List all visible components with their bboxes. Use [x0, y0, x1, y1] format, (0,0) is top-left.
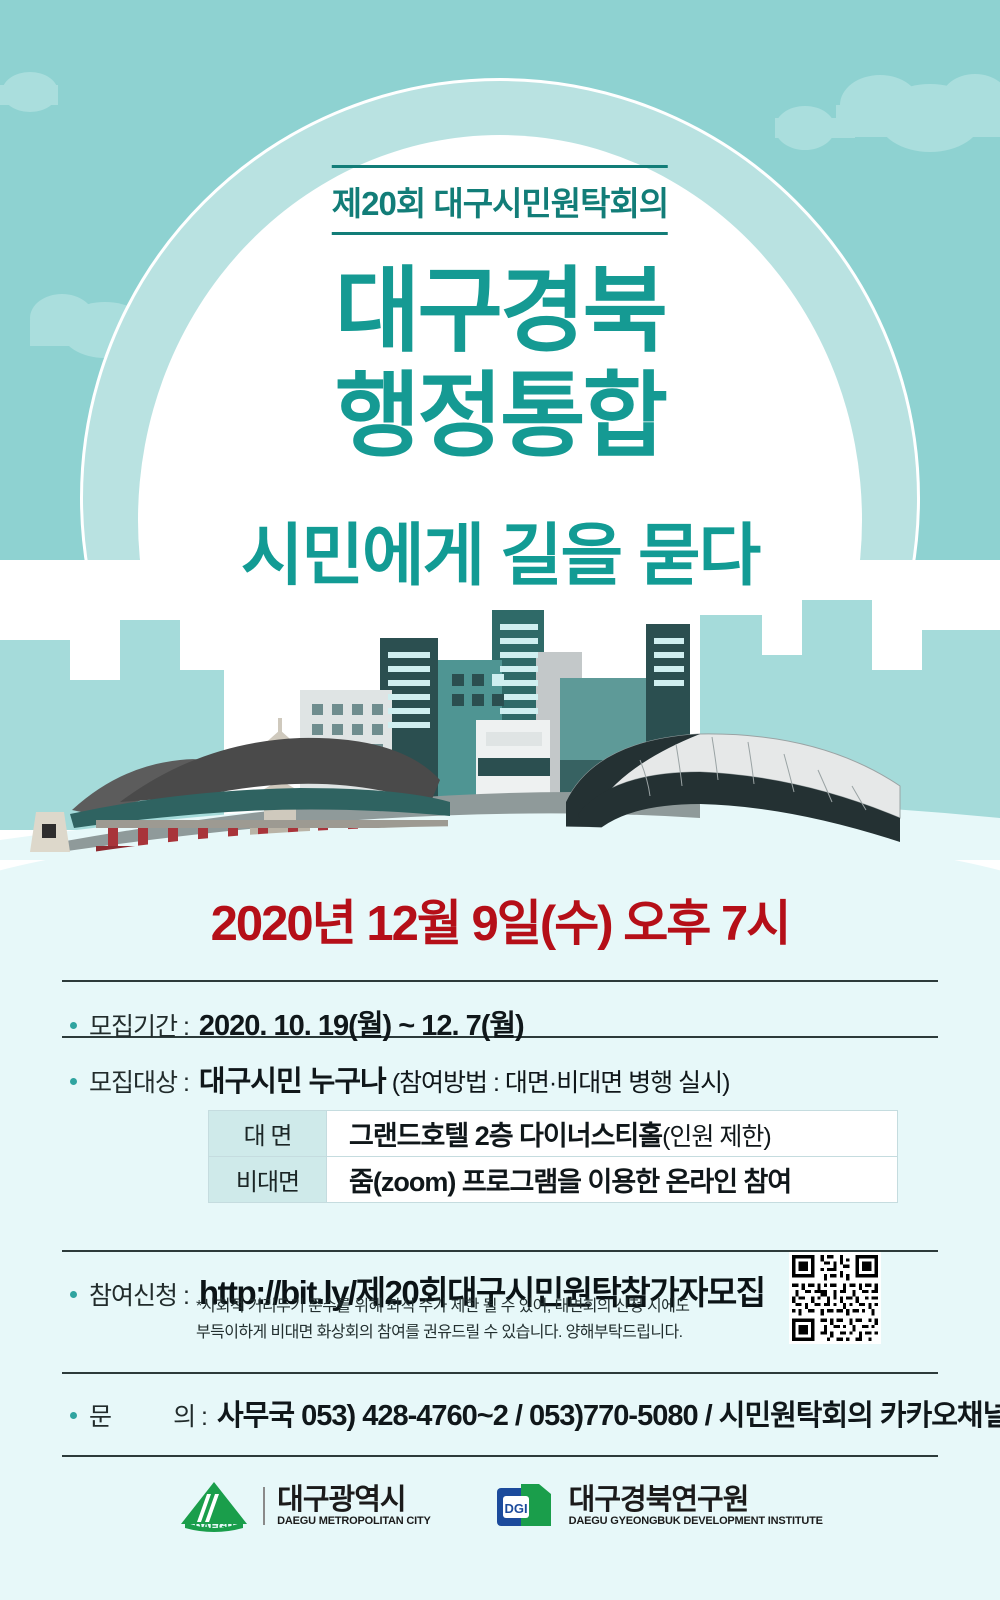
logo-dgi: DGI 대구경북연구원 DAEGU GYEONGBUK DEVELOPMENT …	[495, 1482, 823, 1530]
info-row-contact: 문 의 : 사무국 053) 428-4760~2 / 053)770-5080…	[70, 1392, 1000, 1434]
footer-logos: DAEGU 대구광역시 DAEGU METROPOLITAN CITY DGI …	[0, 1478, 1000, 1534]
dgi-logo-en: DAEGU GYEONGBUK DEVELOPMENT INSTITUTE	[569, 1515, 823, 1527]
logo-divider	[263, 1487, 265, 1525]
daegu-logo-en: DAEGU METROPOLITAN CITY	[277, 1515, 430, 1527]
period-value: 2020. 10. 19(월) ~ 12. 7(월)	[199, 1002, 524, 1044]
apply-label: 참여신청 :	[89, 1276, 189, 1312]
dgi-logo-kr: 대구경북연구원	[569, 1485, 823, 1515]
daegu-logo-kr: 대구광역시	[277, 1485, 430, 1515]
venue-offline-main: 그랜드호텔 2층 다이너스티홀	[349, 1121, 662, 1151]
divider-5	[62, 1455, 938, 1457]
poster-canvas: 제20회 대구시민원탁회의 대구경북 행정통합 시민에게 길을 묻다 2020년…	[0, 0, 1000, 1600]
divider-1	[62, 980, 938, 982]
contact-label-a: 문	[89, 1403, 111, 1431]
note-line-2: 부득이하게 비대면 화상회의 참여를 권유드릴 수 있습니다. 양해부탁드립니다…	[196, 1320, 689, 1346]
period-label: 모집기간 :	[89, 1007, 189, 1043]
date-headline: 2020년 12월 9일(수) 오후 7시	[0, 884, 1000, 955]
event-kicker: 제20회 대구시민원탁회의	[332, 165, 668, 235]
venue-table: 대 면 그랜드호텔 2층 다이너스티홀(인원 제한) 비대면 줌(zoom) 프…	[208, 1110, 898, 1203]
info-row-period: 모집기간 : 2020. 10. 19(월) ~ 12. 7(월)	[70, 1002, 524, 1044]
svg-text:DAEGU: DAEGU	[194, 1521, 234, 1533]
dgi-logo-text: 대구경북연구원 DAEGU GYEONGBUK DEVELOPMENT INST…	[569, 1485, 823, 1527]
venue-value-offline: 그랜드호텔 2층 다이너스티홀(인원 제한)	[327, 1111, 898, 1157]
contact-label: 문 의 :	[89, 1397, 207, 1433]
title-line-2: 행정통합	[0, 370, 1000, 463]
contact-label-b: 의 :	[173, 1397, 207, 1433]
distancing-note: *사회적 거리두기 준수를 위해 좌석 수가 제한 될 수 있어, 대면회의 신…	[196, 1294, 689, 1345]
event-subtitle: 시민에게 길을 묻다	[0, 500, 1000, 599]
audience-label: 모집대상 :	[89, 1063, 189, 1099]
contact-value: 사무국 053) 428-4760~2 / 053)770-5080 / 시민원…	[217, 1392, 1000, 1434]
audience-value: 대구시민 누구나	[199, 1058, 386, 1100]
venue-value-online: 줌(zoom) 프로그램을 이용한 온라인 참여	[327, 1157, 898, 1203]
audience-method-note: (참여방법 : 대면·비대면 병행 실시)	[392, 1063, 730, 1099]
note-line-1: *사회적 거리두기 준수를 위해 좌석 수가 제한 될 수 있어, 대면회의 신…	[196, 1294, 689, 1320]
venue-offline-note: (인원 제한)	[662, 1123, 771, 1151]
venue-key-offline: 대 면	[209, 1111, 327, 1157]
table-row: 대 면 그랜드호텔 2층 다이너스티홀(인원 제한)	[209, 1111, 898, 1157]
bullet-icon	[70, 1078, 77, 1085]
venue-key-online: 비대면	[209, 1157, 327, 1203]
qr-code-icon[interactable]	[789, 1252, 881, 1344]
title-line-1: 대구경북	[0, 265, 1000, 358]
divider-4	[62, 1372, 938, 1374]
info-row-audience: 모집대상 : 대구시민 누구나 (참여방법 : 대면·비대면 병행 실시)	[70, 1058, 729, 1100]
daegu-logo-text: 대구광역시 DAEGU METROPOLITAN CITY	[277, 1485, 430, 1527]
logo-daegu-city: DAEGU 대구광역시 DAEGU METROPOLITAN CITY	[177, 1478, 430, 1534]
bullet-icon	[70, 1291, 77, 1298]
daegu-triangle-icon: DAEGU	[177, 1478, 251, 1534]
bullet-icon	[70, 1022, 77, 1029]
city-illustration	[0, 590, 1000, 860]
svg-text:DGI: DGI	[504, 1501, 527, 1516]
table-row: 비대면 줌(zoom) 프로그램을 이용한 온라인 참여	[209, 1157, 898, 1203]
bullet-icon	[70, 1412, 77, 1419]
dgi-mark-icon: DGI	[495, 1482, 557, 1530]
